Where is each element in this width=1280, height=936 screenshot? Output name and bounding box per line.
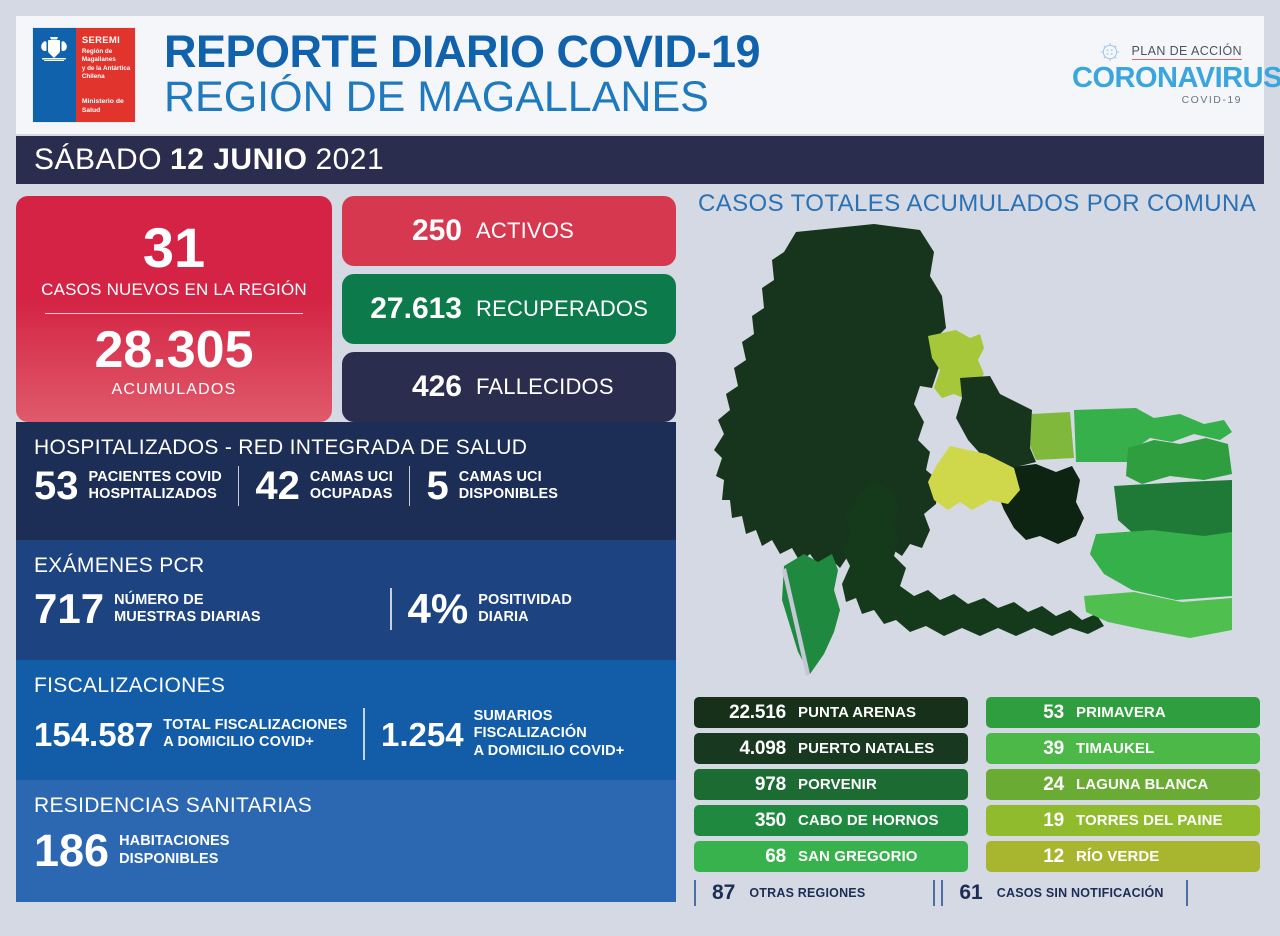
stat-camas-ocupadas: 42 CAMAS UCI OCUPADAS [255, 466, 393, 506]
comuna-value: 68 [694, 846, 786, 868]
status-pill-fallecidos: 426 FALLECIDOS [342, 352, 676, 422]
comuna-row-porvenir[interactable]: 978 PORVENIR [694, 769, 968, 800]
pacientes-value: 53 [34, 466, 79, 506]
comuna-row-rio-verde[interactable]: 12 RÍO VERDE [986, 841, 1260, 872]
stat-total-fiscalizaciones: 154.587 TOTAL FISCALIZACIONES A DOMICILI… [34, 708, 347, 760]
comuna-columns: 22.516 PUNTA ARENAS 4.098 PUERTO NATALES… [694, 697, 1260, 872]
sumarios-label: SUMARIOS FISCALIZACIÓN A DOMICILIO COVID… [474, 708, 625, 760]
comuna-row-punta-arenas[interactable]: 22.516 PUNTA ARENAS [694, 697, 968, 728]
plan-row: PLAN DE ACCIÓN [1072, 42, 1242, 62]
date-weekday: SÁBADO [34, 143, 162, 177]
uci-disponibles-l1: CAMAS UCI [459, 469, 558, 486]
footer-item-sin-notificacion: 61 CASOS SIN NOTIFICACIÓN [933, 880, 1187, 906]
muestras-l1: NÚMERO DE [114, 592, 261, 609]
comuna-name: SAN GREGORIO [798, 848, 918, 865]
residencias-stats: 186 HABITACIONES DISPONIBLES [34, 828, 658, 873]
date-year: 2021 [315, 143, 384, 177]
total-fiscalizaciones-label: TOTAL FISCALIZACIONES A DOMICILIO COVID+ [163, 717, 347, 752]
stat-habitaciones: 186 HABITACIONES DISPONIBLES [34, 828, 230, 873]
region-line-2: y de la Antártica [82, 65, 135, 73]
comuna-name: PORVENIR [798, 776, 877, 793]
habitaciones-l1: HABITACIONES [119, 833, 230, 850]
comuna-row-torres-del-paine[interactable]: 19 TORRES DEL PAINE [986, 805, 1260, 836]
sumarios-value: 1.254 [381, 718, 464, 751]
comuna-value: 4.098 [694, 738, 786, 760]
comuna-value: 19 [986, 810, 1064, 832]
stat-camas-disponibles: 5 CAMAS UCI DISPONIBLES [426, 466, 558, 506]
new-cases-label: CASOS NUEVOS EN LA REGIÓN [41, 280, 307, 300]
muestras-value: 717 [34, 588, 104, 630]
sin-notificacion-label: CASOS SIN NOTIFICACIÓN [997, 886, 1164, 900]
comuna-row-primavera[interactable]: 53 PRIMAVERA [986, 697, 1260, 728]
covid19-label: COVID-19 [1072, 94, 1242, 106]
positividad-value: 4% [408, 588, 469, 630]
otras-regiones-value: 87 [712, 881, 735, 905]
pcr-stats: 717 NÚMERO DE MUESTRAS DIARIAS 4% POSITI… [34, 588, 658, 630]
positividad-label: POSITIVIDAD DIARIA [478, 592, 572, 627]
region-line-3: Chilena [82, 73, 135, 81]
total-fiscalizaciones-value: 154.587 [34, 718, 153, 751]
positividad-l1: POSITIVIDAD [478, 592, 572, 609]
pacientes-label-l1: PACIENTES COVID [89, 469, 222, 486]
map-svg [684, 218, 1264, 688]
footer-divider-2 [933, 880, 935, 906]
ministry-label: Ministerio de Salud [82, 97, 124, 115]
stat-sumarios: 1.254 SUMARIOS FISCALIZACIÓN A DOMICILIO… [381, 708, 624, 760]
header-bar: SEREMI Región de Magallanes y de la Antá… [16, 16, 1264, 134]
stat-positividad: 4% POSITIVIDAD DIARIA [408, 588, 572, 630]
hospitalizados-stats: 53 PACIENTES COVID HOSPITALIZADOS 42 CAM… [34, 466, 658, 506]
comuna-name: CABO DE HORNOS [798, 812, 939, 829]
sin-notificacion-value: 61 [959, 881, 982, 905]
right-column: CASOS TOTALES ACUMULADOS POR COMUNA [684, 190, 1264, 688]
plan-de-accion-logo: PLAN DE ACCIÓN CORONAVIRUS COVID-19 [1072, 42, 1242, 106]
stat-divider-2 [409, 466, 411, 506]
page-subtitle: REGIÓN DE MAGALLANES [164, 75, 760, 121]
footer-item-otras-regiones: 87 OTRAS REGIONES [694, 880, 865, 906]
muestras-label: NÚMERO DE MUESTRAS DIARIAS [114, 592, 261, 627]
panel-fiscalizaciones: FISCALIZACIONES 154.587 TOTAL FISCALIZAC… [16, 660, 676, 780]
comuna-column-left: 22.516 PUNTA ARENAS 4.098 PUERTO NATALES… [694, 697, 968, 872]
comuna-row-cabo-de-hornos[interactable]: 350 CABO DE HORNOS [694, 805, 968, 836]
magallanes-map [684, 218, 1264, 688]
fiscalizaciones-stats: 154.587 TOTAL FISCALIZACIONES A DOMICILI… [34, 708, 658, 760]
ministry-line-2: Salud [82, 106, 124, 115]
accumulated-value: 28.305 [94, 324, 253, 376]
footer-divider [694, 880, 696, 906]
map-region-se-green[interactable] [1090, 530, 1232, 600]
comuna-row-puerto-natales[interactable]: 4.098 PUERTO NATALES [694, 733, 968, 764]
status-pills: 250 ACTIVOS 27.613 RECUPERADOS 426 FALLE… [342, 196, 676, 422]
infographic-page: SEREMI Región de Magallanes y de la Antá… [0, 0, 1280, 936]
habitaciones-l2: DISPONIBLES [119, 851, 230, 868]
uci-ocupadas-value: 42 [255, 466, 300, 506]
sumarios-l1: SUMARIOS [474, 708, 625, 725]
card-divider [45, 313, 303, 314]
logo-blue-panel [33, 28, 76, 122]
uci-disponibles-l2: DISPONIBLES [459, 486, 558, 503]
muestras-l2: MUESTRAS DIARIAS [114, 609, 261, 626]
otras-regiones-label: OTRAS REGIONES [749, 886, 865, 900]
comuna-name: PUNTA ARENAS [798, 704, 916, 721]
left-column: 31 CASOS NUEVOS EN LA REGIÓN 28.305 ACUM… [16, 196, 676, 902]
pacientes-label: PACIENTES COVID HOSPITALIZADOS [89, 469, 222, 504]
map-region-natales[interactable] [714, 224, 946, 568]
kpi-row: 31 CASOS NUEVOS EN LA REGIÓN 28.305 ACUM… [16, 196, 676, 422]
comuna-value: 24 [986, 774, 1064, 796]
date-daymonth: 12 JUNIO [170, 143, 307, 177]
comuna-name: RÍO VERDE [1076, 848, 1159, 865]
region-line-1: Región de Magallanes [82, 48, 135, 65]
comuna-row-laguna-blanca[interactable]: 24 LAGUNA BLANCA [986, 769, 1260, 800]
map-region-antartica[interactable] [782, 554, 840, 674]
new-cases-value: 31 [143, 220, 205, 276]
positividad-l2: DIARIA [478, 609, 572, 626]
comuna-value: 978 [694, 774, 786, 796]
status-pill-recuperados: 27.613 RECUPERADOS [342, 274, 676, 344]
activos-value: 250 [342, 214, 462, 248]
comuna-name: LAGUNA BLANCA [1076, 776, 1208, 793]
fallecidos-label: FALLECIDOS [476, 374, 614, 400]
page-title: REPORTE DIARIO COVID-19 [164, 29, 760, 75]
comuna-footer: 87 OTRAS REGIONES 61 CASOS SIN NOTIFICAC… [694, 880, 1260, 906]
logo-red-panel: SEREMI Región de Magallanes y de la Antá… [76, 28, 135, 122]
ministry-line-1: Ministerio de [82, 97, 124, 106]
recuperados-value: 27.613 [342, 292, 462, 326]
map-region-laguna-blanca[interactable] [1030, 412, 1074, 460]
coronavirus-label: CORONAVIRUS [1072, 64, 1242, 93]
residencias-heading: RESIDENCIAS SANITARIAS [34, 794, 658, 818]
fiscalizaciones-heading: FISCALIZACIONES [34, 674, 658, 698]
date-bar: SÁBADO 12 JUNIO 2021 [16, 136, 1264, 184]
comuna-row-san-gregorio[interactable]: 68 SAN GREGORIO [694, 841, 968, 872]
uci-ocupadas-l2: OCUPADAS [310, 486, 393, 503]
pcr-heading: EXÁMENES PCR [34, 554, 658, 578]
total-fisc-l2: A DOMICILIO COVID+ [163, 734, 347, 751]
comuna-column-right: 53 PRIMAVERA 39 TIMAUKEL 24 LAGUNA BLANC… [986, 697, 1260, 872]
stat-pacientes-covid: 53 PACIENTES COVID HOSPITALIZADOS [34, 466, 222, 506]
comuna-name: PUERTO NATALES [798, 740, 934, 757]
activos-label: ACTIVOS [476, 218, 574, 244]
panel-pcr: EXÁMENES PCR 717 NÚMERO DE MUESTRAS DIAR… [16, 540, 676, 660]
fallecidos-value: 426 [342, 370, 462, 404]
plan-label: PLAN DE ACCIÓN [1132, 44, 1243, 60]
panel-residencias: RESIDENCIAS SANITARIAS 186 HABITACIONES … [16, 780, 676, 902]
coat-of-arms-icon [39, 36, 69, 62]
comuna-name: TORRES DEL PAINE [1076, 812, 1223, 829]
footer-divider-3 [941, 880, 943, 906]
accumulated-label: ACUMULADOS [112, 381, 237, 399]
hospitalizados-heading: HOSPITALIZADOS - RED INTEGRADA DE SALUD [34, 436, 658, 460]
panel-hospitalizados: HOSPITALIZADOS - RED INTEGRADA DE SALUD … [16, 422, 676, 540]
seremi-label: SEREMI [82, 35, 135, 46]
comuna-value: 12 [986, 846, 1064, 868]
uci-disponibles-label: CAMAS UCI DISPONIBLES [459, 469, 558, 504]
comuna-list: 22.516 PUNTA ARENAS 4.098 PUERTO NATALES… [694, 697, 1260, 906]
recuperados-label: RECUPERADOS [476, 296, 648, 322]
comuna-value: 22.516 [694, 702, 786, 724]
uci-ocupadas-label: CAMAS UCI OCUPADAS [310, 469, 393, 504]
footer-divider-4 [1186, 880, 1188, 906]
habitaciones-value: 186 [34, 828, 109, 873]
map-region-se-tail[interactable] [1084, 592, 1232, 638]
sumarios-l3: A DOMICILIO COVID+ [474, 743, 625, 760]
fisc-divider [363, 708, 365, 760]
new-cases-card: 31 CASOS NUEVOS EN LA REGIÓN 28.305 ACUM… [16, 196, 332, 422]
comuna-value: 53 [986, 702, 1064, 724]
stat-divider [238, 466, 240, 506]
status-pill-activos: 250 ACTIVOS [342, 196, 676, 266]
pcr-divider [390, 588, 392, 630]
map-region-primavera[interactable] [1126, 438, 1232, 484]
total-fisc-l1: TOTAL FISCALIZACIONES [163, 717, 347, 734]
uci-disponibles-value: 5 [426, 466, 448, 506]
pacientes-label-l2: HOSPITALIZADOS [89, 486, 222, 503]
seremi-region: Región de Magallanes y de la Antártica C… [82, 48, 135, 81]
habitaciones-label: HABITACIONES DISPONIBLES [119, 833, 230, 868]
comuna-name: PRIMAVERA [1076, 704, 1166, 721]
comuna-name: TIMAUKEL [1076, 740, 1154, 757]
comuna-value: 39 [986, 738, 1064, 760]
stat-muestras: 717 NÚMERO DE MUESTRAS DIARIAS [34, 588, 374, 630]
header-titles: REPORTE DIARIO COVID-19 REGIÓN DE MAGALL… [164, 29, 760, 120]
uci-ocupadas-l1: CAMAS UCI [310, 469, 393, 486]
sumarios-l2: FISCALIZACIÓN [474, 725, 625, 742]
map-title: CASOS TOTALES ACUMULADOS POR COMUNA [684, 190, 1264, 218]
seremi-logo: SEREMI Región de Magallanes y de la Antá… [32, 27, 136, 123]
comuna-value: 350 [694, 810, 786, 832]
virus-icon [1093, 42, 1127, 62]
comuna-row-timaukel[interactable]: 39 TIMAUKEL [986, 733, 1260, 764]
